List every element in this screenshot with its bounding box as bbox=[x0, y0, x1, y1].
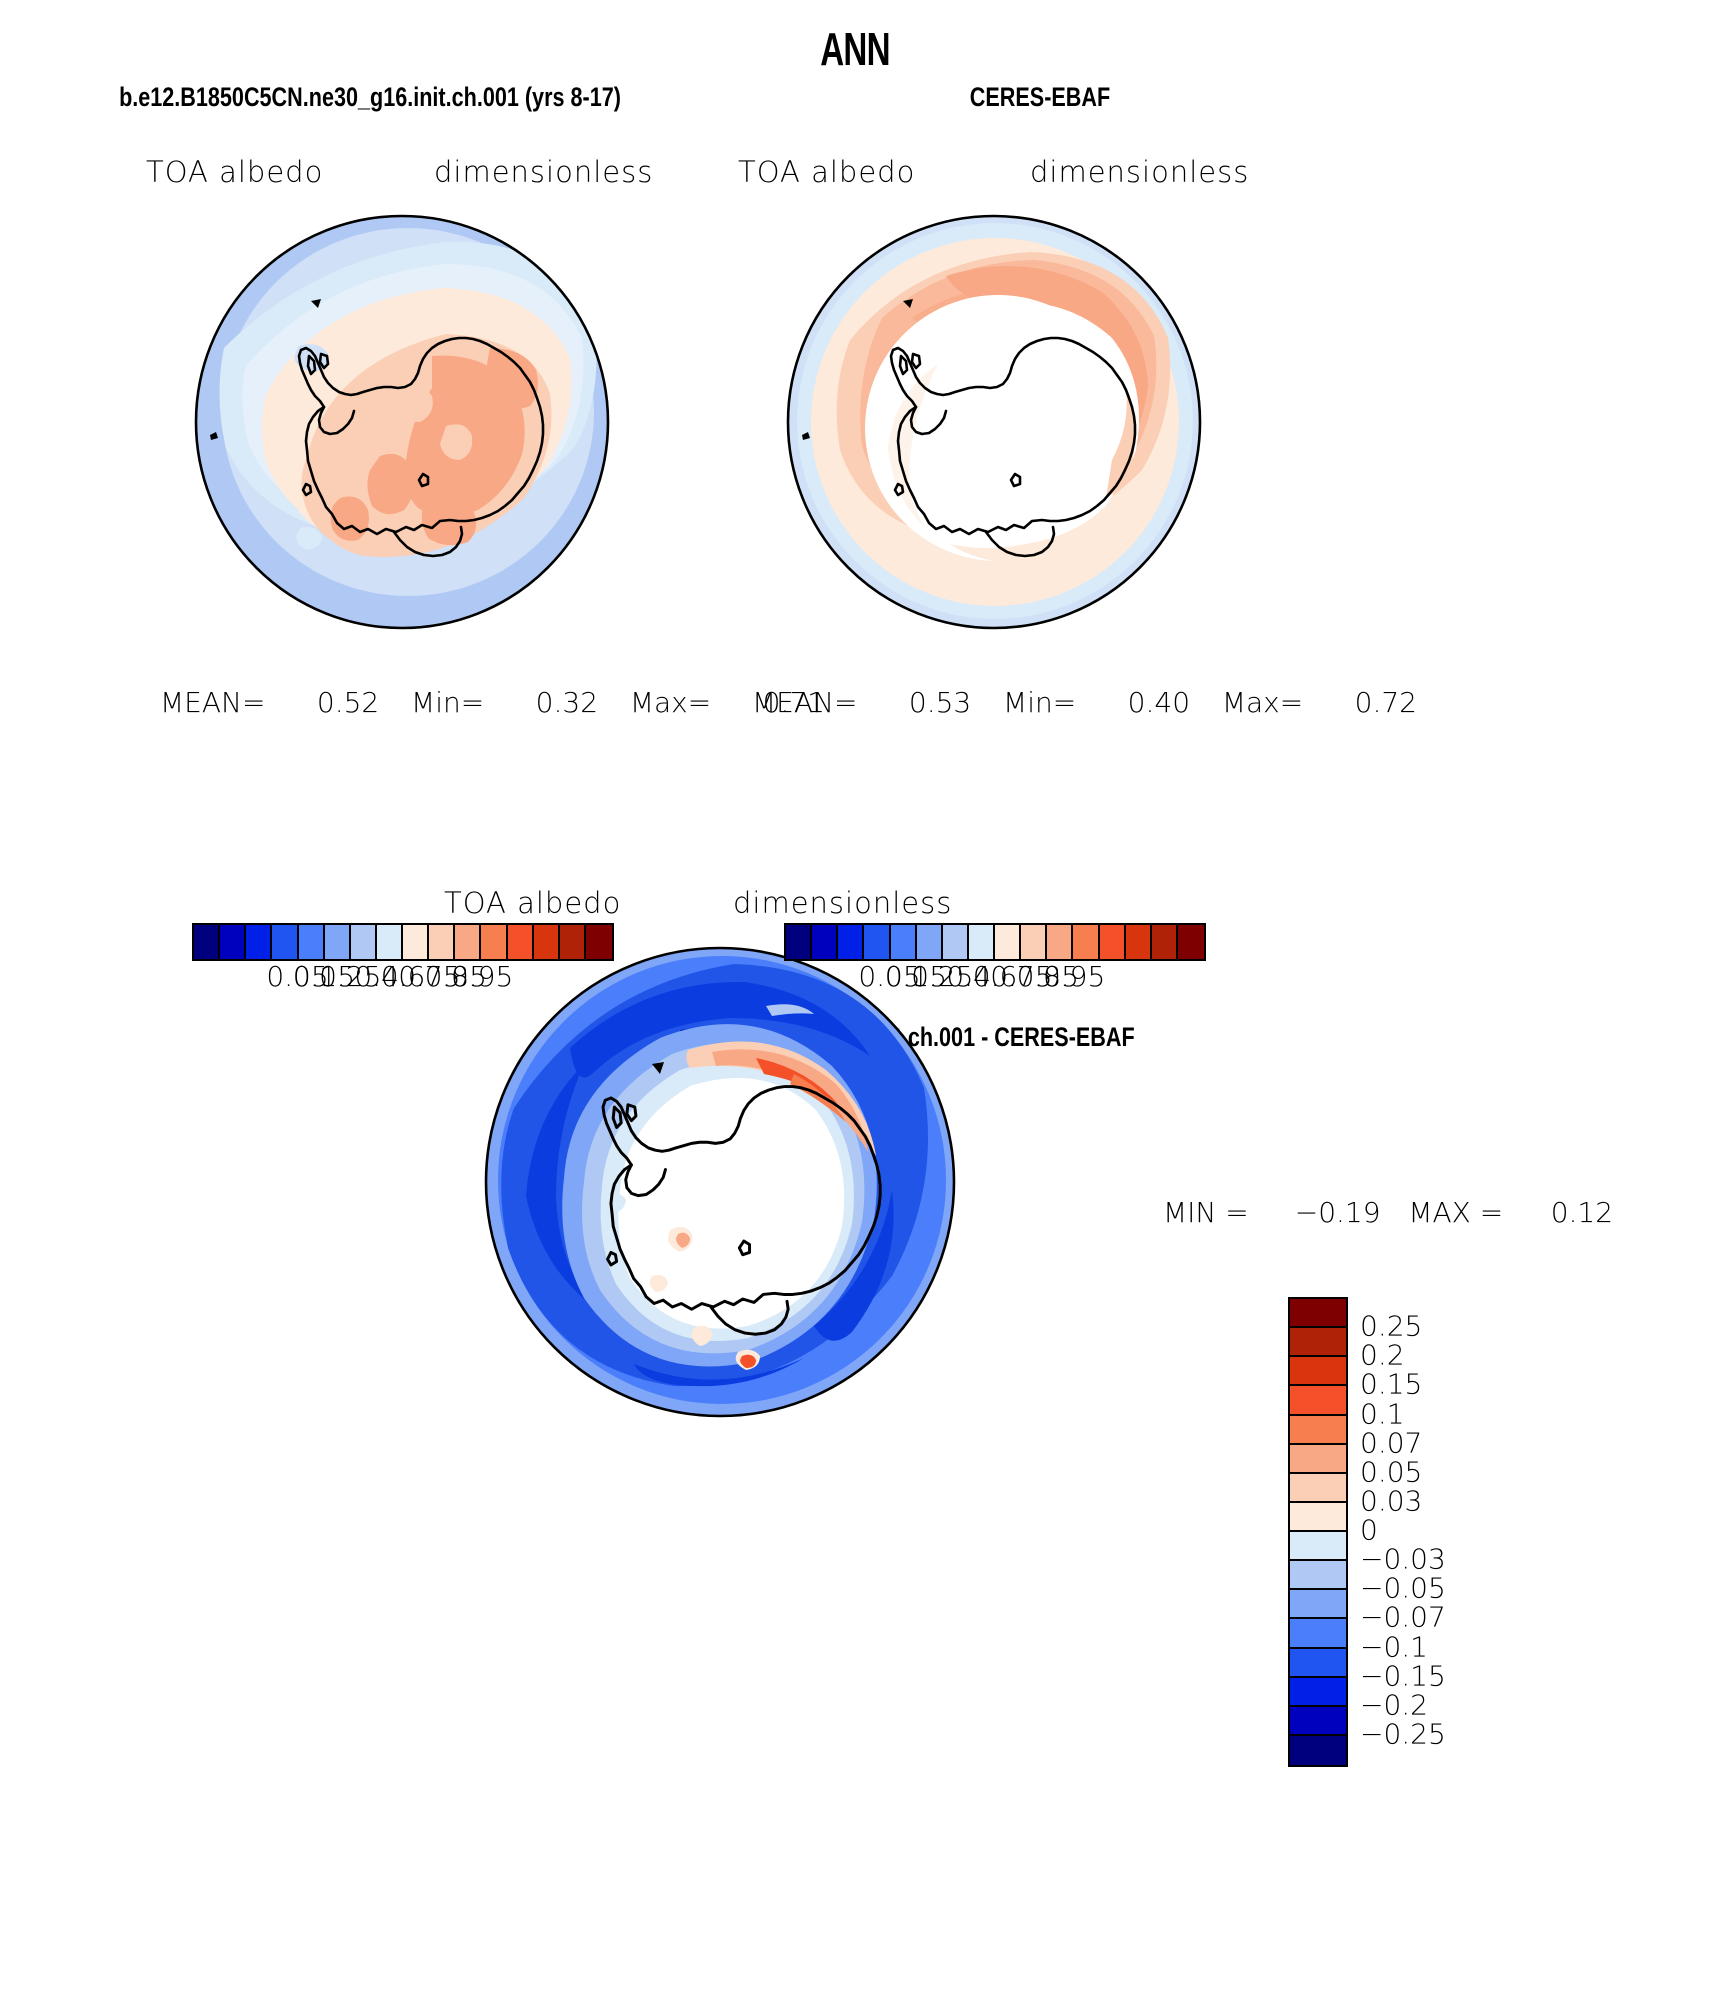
max-key-test: Max= bbox=[630, 686, 711, 719]
colorbar-cell bbox=[1290, 1416, 1346, 1445]
colorbar-cell bbox=[586, 925, 612, 959]
max-value-obs: 0.72 bbox=[1343, 686, 1417, 719]
colorbar-cell bbox=[969, 925, 995, 959]
colorbar-cell bbox=[917, 925, 943, 959]
colorbar-tick-label: −0.1 bbox=[1360, 1630, 1428, 1663]
panel-title-obs: CERES-EBAF bbox=[816, 82, 1264, 113]
colorbar-tick-label: −0.25 bbox=[1360, 1717, 1446, 1750]
stats-line-obs: MEAN= 0.53 Min= 0.40 Max= 0.72 bbox=[752, 686, 1417, 719]
colorbar-cell bbox=[786, 925, 812, 959]
colorbar-cell bbox=[1126, 925, 1152, 959]
colorbar-cell bbox=[1290, 1328, 1346, 1357]
colorbar-tick-label: −0.07 bbox=[1360, 1601, 1446, 1634]
mean-value-test: 0.52 bbox=[305, 686, 379, 719]
colorbar-cell bbox=[194, 925, 220, 959]
colorbar-tick-label: 0.1 bbox=[1360, 1397, 1405, 1430]
colorbar-cell bbox=[1178, 925, 1204, 959]
colorbar-tick-label: 0.95 bbox=[1043, 960, 1105, 993]
max-key-diff: MAX = bbox=[1408, 1196, 1503, 1229]
map-variable-label-obs: TOA albedo bbox=[738, 155, 915, 189]
colorbar-cell bbox=[1047, 925, 1073, 959]
colorbar-cell bbox=[891, 925, 917, 959]
colorbar-cell bbox=[351, 925, 377, 959]
colorbar-tick-label: 0.15 bbox=[1360, 1368, 1422, 1401]
colorbar-cell bbox=[995, 925, 1021, 959]
map-variable-label-diff: TOA albedo bbox=[444, 886, 621, 920]
minmax-line-diff: MIN = −0.19 MAX = 0.12 bbox=[1163, 1196, 1613, 1229]
polar-map-test bbox=[194, 198, 610, 646]
colorbar-cell bbox=[1290, 1736, 1346, 1765]
colorbar-cell bbox=[455, 925, 481, 959]
colorbar-cell bbox=[838, 925, 864, 959]
colorbar-cell bbox=[1290, 1386, 1346, 1415]
colorbar-cell bbox=[812, 925, 838, 959]
colorbar-cell bbox=[429, 925, 455, 959]
map-units-label-test: dimensionless bbox=[434, 155, 653, 189]
colorbar-cell bbox=[377, 925, 403, 959]
colorbar-cell bbox=[299, 925, 325, 959]
polar-map-diff bbox=[484, 928, 956, 1436]
colorbar-cell bbox=[1073, 925, 1099, 959]
min-value-diff: −0.19 bbox=[1293, 1196, 1381, 1229]
min-key-test: Min= bbox=[411, 686, 484, 719]
colorbar-cell bbox=[1290, 1299, 1346, 1328]
colorbar-cell bbox=[1290, 1649, 1346, 1678]
colorbar-cell bbox=[1100, 925, 1126, 959]
colorbar-tick-label: 0.03 bbox=[1360, 1484, 1422, 1517]
colorbar-cell bbox=[220, 925, 246, 959]
max-key-obs: Max= bbox=[1222, 686, 1303, 719]
colorbar-cell bbox=[1290, 1357, 1346, 1386]
colorbar-tick-label: 0.2 bbox=[1360, 1339, 1405, 1372]
colorbar-cell bbox=[325, 925, 351, 959]
colorbar-tick-label: 0.25 bbox=[1360, 1310, 1422, 1343]
map-units-label-diff: dimensionless bbox=[733, 886, 952, 920]
colorbar-cell bbox=[943, 925, 969, 959]
colorbar-cell bbox=[1290, 1503, 1346, 1532]
panel-title-test: b.e12.B1850C5CN.ne30_g16.init.ch.001 (yr… bbox=[74, 82, 666, 113]
colorbar-cell bbox=[508, 925, 534, 959]
colorbar-tick-label: −0.15 bbox=[1360, 1659, 1446, 1692]
polar-map-obs bbox=[786, 198, 1202, 646]
colorbar-cell bbox=[1290, 1445, 1346, 1474]
colorbar-cell bbox=[864, 925, 890, 959]
colorbar-cell bbox=[1290, 1474, 1346, 1503]
min-value-obs: 0.40 bbox=[1116, 686, 1190, 719]
colorbar-cell bbox=[534, 925, 560, 959]
colorbar-tick-label: −0.05 bbox=[1360, 1572, 1446, 1605]
colorbar-cell bbox=[1290, 1590, 1346, 1619]
colorbar-tick-label: −0.2 bbox=[1360, 1688, 1428, 1721]
colorbar-tick-label: 0.05 bbox=[1360, 1455, 1422, 1488]
colorbar-obs[interactable] bbox=[784, 923, 1206, 961]
colorbar-tick-label: 0 bbox=[1360, 1514, 1378, 1547]
mean-key-test: MEAN= bbox=[160, 686, 265, 719]
colorbar-cell bbox=[1290, 1619, 1346, 1648]
colorbar-cell bbox=[481, 925, 507, 959]
colorbar-cell bbox=[1021, 925, 1047, 959]
colorbar-cell bbox=[403, 925, 429, 959]
colorbar-diff[interactable] bbox=[1288, 1297, 1348, 1767]
min-key-diff: MIN = bbox=[1163, 1196, 1249, 1229]
min-key-obs: Min= bbox=[1003, 686, 1076, 719]
map-variable-label-test: TOA albedo bbox=[146, 155, 323, 189]
colorbar-tick-label: 0.95 bbox=[451, 960, 513, 993]
colorbar-cell bbox=[272, 925, 298, 959]
colorbar-cell bbox=[1290, 1532, 1346, 1561]
colorbar-cell bbox=[1152, 925, 1178, 959]
colorbar-tick-label: 0.07 bbox=[1360, 1426, 1422, 1459]
mean-key-obs: MEAN= bbox=[752, 686, 857, 719]
colorbar-cell bbox=[560, 925, 586, 959]
colorbar-test[interactable] bbox=[192, 923, 614, 961]
min-value-test: 0.32 bbox=[524, 686, 598, 719]
colorbar-cell bbox=[1290, 1678, 1346, 1707]
max-value-diff: 0.12 bbox=[1547, 1196, 1613, 1229]
colorbar-tick-label: −0.03 bbox=[1360, 1543, 1446, 1576]
stats-line-test: MEAN= 0.52 Min= 0.32 Max= 0.71 bbox=[160, 686, 825, 719]
map-units-label-obs: dimensionless bbox=[1030, 155, 1249, 189]
season-title: ANN bbox=[239, 22, 1470, 76]
colorbar-cell bbox=[246, 925, 272, 959]
colorbar-cell bbox=[1290, 1561, 1346, 1590]
mean-value-obs: 0.53 bbox=[897, 686, 971, 719]
colorbar-cell bbox=[1290, 1707, 1346, 1736]
